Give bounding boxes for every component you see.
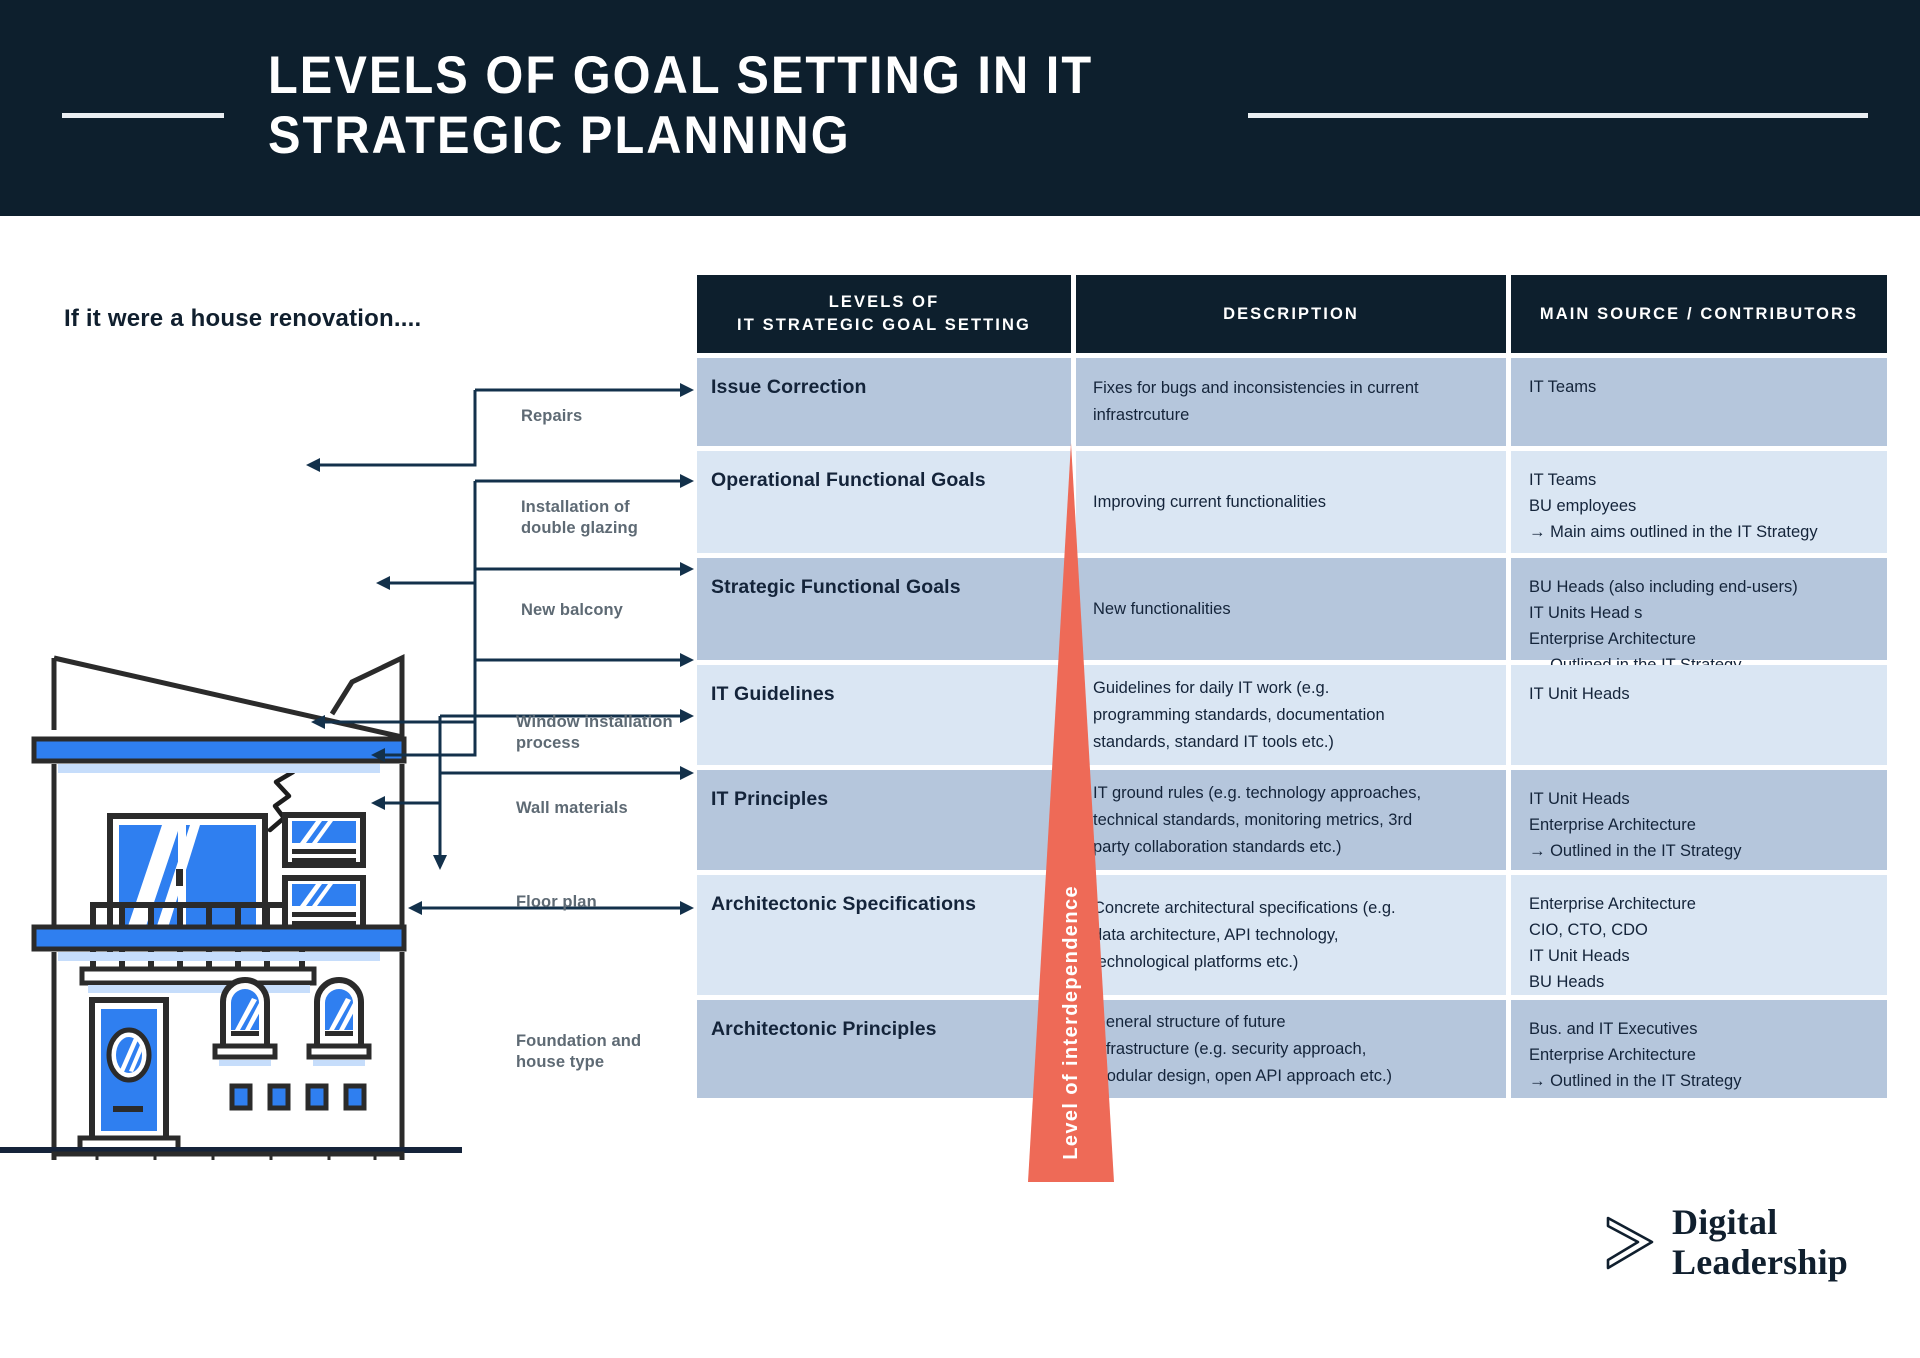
- column-header-description: DESCRIPTION: [1076, 275, 1506, 353]
- level-name: Architectonic Principles: [697, 1000, 1071, 1098]
- mid-floor-slab: [34, 927, 404, 961]
- header-rule-right: [1248, 113, 1868, 118]
- table-row[interactable]: Architectonic Specifications Concrete ar…: [697, 875, 1887, 995]
- table-row[interactable]: Strategic Functional Goals New functiona…: [697, 558, 1887, 660]
- brand-logo: Digital Leadership: [1602, 1206, 1892, 1301]
- logo-text: Digital Leadership: [1672, 1202, 1848, 1282]
- annotation-new-balcony: New balcony: [521, 600, 623, 621]
- level-name: Architectonic Specifications: [697, 875, 1071, 995]
- level-sources: Enterprise Architecture CIO, CTO, CDO IT…: [1511, 875, 1887, 995]
- annotation-window-installation: Window installation process: [516, 712, 673, 754]
- level-description: IT ground rules (e.g. technology approac…: [1076, 770, 1506, 870]
- page-header: LEVELS OF GOAL SETTING IN IT STRATEGIC P…: [0, 0, 1920, 216]
- level-sources: BU Heads (also including end-users) IT U…: [1511, 558, 1887, 660]
- level-sources: Bus. and IT Executives Enterprise Archit…: [1511, 1000, 1887, 1098]
- table-row[interactable]: IT Guidelines Guidelines for daily IT wo…: [697, 665, 1887, 765]
- column-header-sources: MAIN SOURCE / CONTRIBUTORS: [1511, 275, 1887, 353]
- level-name: Issue Correction: [697, 358, 1071, 446]
- table-header-row: LEVELS OF IT STRATEGIC GOAL SETTING DESC…: [697, 275, 1887, 353]
- page-title: LEVELS OF GOAL SETTING IN IT STRATEGIC P…: [268, 46, 1170, 166]
- level-description: Fixes for bugs and inconsistencies in cu…: [1076, 358, 1506, 446]
- level-sources: IT Unit Heads Enterprise Architecture → …: [1511, 770, 1887, 870]
- level-description: New functionalities: [1076, 558, 1506, 660]
- annotation-double-glazing: Installation of double glazing: [521, 497, 638, 539]
- level-description: General structure of future infrastructu…: [1076, 1000, 1506, 1098]
- table-row[interactable]: Issue Correction Fixes for bugs and inco…: [697, 358, 1887, 446]
- wall-tiles-icon: [232, 1086, 364, 1108]
- level-sources: IT Teams BU employees → Main aims outlin…: [1511, 451, 1887, 553]
- foundation-bricks-icon: [54, 1154, 402, 1160]
- table-row[interactable]: Architectonic Principles General structu…: [697, 1000, 1887, 1098]
- window-upper-2-icon: [285, 878, 363, 928]
- annotation-floor-plan: Floor plan: [516, 892, 597, 913]
- table-row[interactable]: Operational Functional Goals Improving c…: [697, 451, 1887, 553]
- roof-icon: [54, 658, 402, 738]
- level-name: IT Guidelines: [697, 665, 1071, 765]
- level-description: Concrete architectural specifications (e…: [1076, 875, 1506, 995]
- level-name: Operational Functional Goals: [697, 451, 1071, 553]
- goal-levels-table: LEVELS OF IT STRATEGIC GOAL SETTING DESC…: [697, 275, 1887, 1103]
- house-caption: If it were a house renovation....: [64, 305, 421, 333]
- header-rule-left: [62, 113, 224, 118]
- front-door-icon: [80, 1000, 178, 1150]
- arched-window-2-icon: [309, 980, 369, 1066]
- window-upper-1-icon: [285, 815, 363, 865]
- level-description: Guidelines for daily IT work (e.g. progr…: [1076, 665, 1506, 765]
- chevron-icon: [1602, 1214, 1660, 1276]
- annotation-repairs: Repairs: [521, 406, 582, 427]
- arched-window-1-icon: [215, 980, 275, 1066]
- level-description: Improving current functionalities: [1076, 451, 1506, 553]
- level-sources: IT Unit Heads: [1511, 665, 1887, 765]
- level-name: Strategic Functional Goals: [697, 558, 1071, 660]
- arrow-new-balcony: [311, 562, 694, 729]
- level-name: IT Principles: [697, 770, 1071, 870]
- annotation-foundation: Foundation and house type: [516, 1031, 641, 1073]
- arrow-repairs: [306, 383, 694, 472]
- annotation-wall-materials: Wall materials: [516, 798, 628, 819]
- level-sources: IT Teams: [1511, 358, 1887, 446]
- upper-floor-slab: [34, 739, 404, 773]
- table-row[interactable]: IT Principles IT ground rules (e.g. tech…: [697, 770, 1887, 870]
- column-header-levels: LEVELS OF IT STRATEGIC GOAL SETTING: [697, 275, 1071, 353]
